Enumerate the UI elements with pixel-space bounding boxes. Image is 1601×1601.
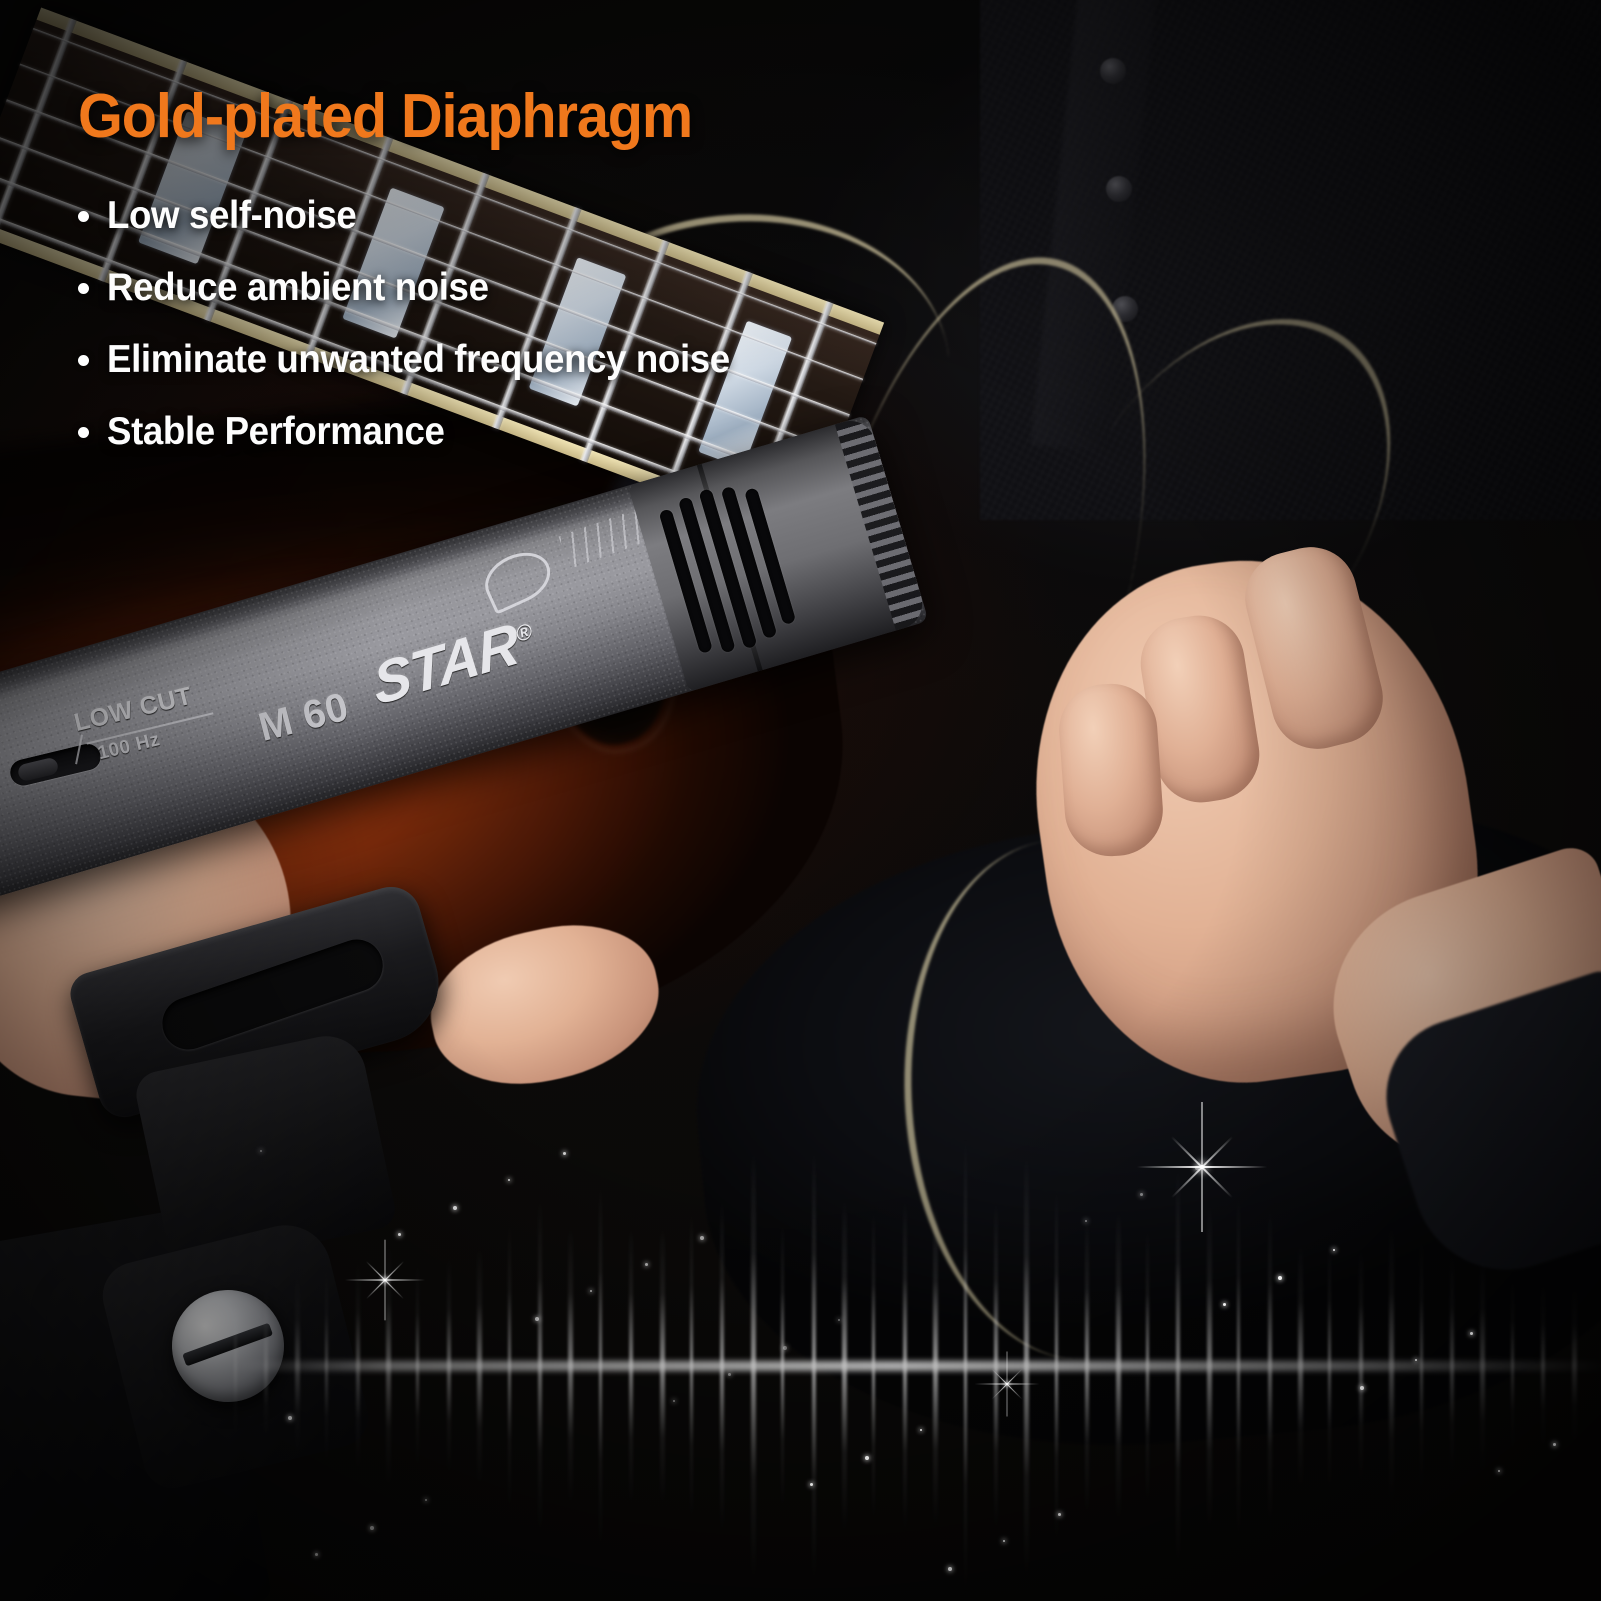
sparkle-dot <box>563 1152 566 1155</box>
star-flare-icon <box>1006 1383 1008 1385</box>
sparkle-dot <box>315 1553 318 1556</box>
sparkle-dot <box>425 1499 427 1501</box>
feature-label: Stable Performance <box>107 410 445 454</box>
sparkle-dot <box>1278 1276 1282 1280</box>
bullet-dot-icon <box>78 427 89 438</box>
bullet-dot-icon <box>78 355 89 366</box>
sparkle-dot <box>673 1400 675 1402</box>
product-feature-image: 100 Hz LOW CUT M 60 STAR® <box>0 0 1601 1601</box>
sparkle-dot <box>453 1206 457 1210</box>
registered-trademark-icon: ® <box>515 618 533 647</box>
feature-label: Eliminate unwanted frequency noise <box>107 338 730 382</box>
bullet-dot-icon <box>78 211 89 222</box>
sparkle-dot <box>398 1233 401 1236</box>
sparkle-dot <box>645 1263 648 1266</box>
sparkle-dot <box>728 1373 731 1376</box>
sparkle-dot <box>1223 1303 1226 1306</box>
sparkle-dot <box>590 1290 592 1292</box>
feature-list-item: Low self-noise <box>78 194 900 238</box>
sparkle-dot <box>838 1319 840 1321</box>
bullet-dot-icon <box>78 283 89 294</box>
sparkle-dot <box>1333 1249 1335 1251</box>
sparkle-dot <box>1553 1443 1556 1446</box>
marketing-copy-panel: Gold-plated Diaphragm Low self-noiseRedu… <box>0 0 900 470</box>
ring-finger <box>1056 681 1166 859</box>
feature-label: Low self-noise <box>107 194 356 238</box>
page-title: Gold-plated Diaphragm <box>78 86 842 148</box>
star-flare-icon <box>384 1279 386 1281</box>
sparkle-dot <box>260 1150 262 1152</box>
sparkle-dot <box>948 1567 952 1571</box>
shirt-button <box>1100 58 1126 84</box>
screw-slot <box>182 1323 273 1367</box>
sparkle-dot <box>1140 1193 1143 1196</box>
sparkle-dot <box>1085 1220 1087 1222</box>
feature-label: Reduce ambient noise <box>107 266 489 310</box>
sparkle-dot <box>700 1236 704 1240</box>
sparkle-dot <box>1003 1540 1005 1542</box>
feature-list: Low self-noiseReduce ambient noiseElimin… <box>78 194 900 454</box>
sparkle-dot <box>535 1317 539 1321</box>
sparkle-dot <box>370 1526 374 1530</box>
feature-list-item: Reduce ambient noise <box>78 266 900 310</box>
sparkle-dot <box>783 1346 787 1350</box>
feature-list-item: Eliminate unwanted frequency noise <box>78 338 900 382</box>
star-flare-icon <box>1200 1165 1204 1169</box>
feature-list-item: Stable Performance <box>78 410 900 454</box>
sparkle-dot <box>1498 1470 1500 1472</box>
sparkle-dot <box>288 1416 292 1420</box>
sparkle-dot <box>1058 1513 1061 1516</box>
shirt-button <box>1106 176 1132 202</box>
